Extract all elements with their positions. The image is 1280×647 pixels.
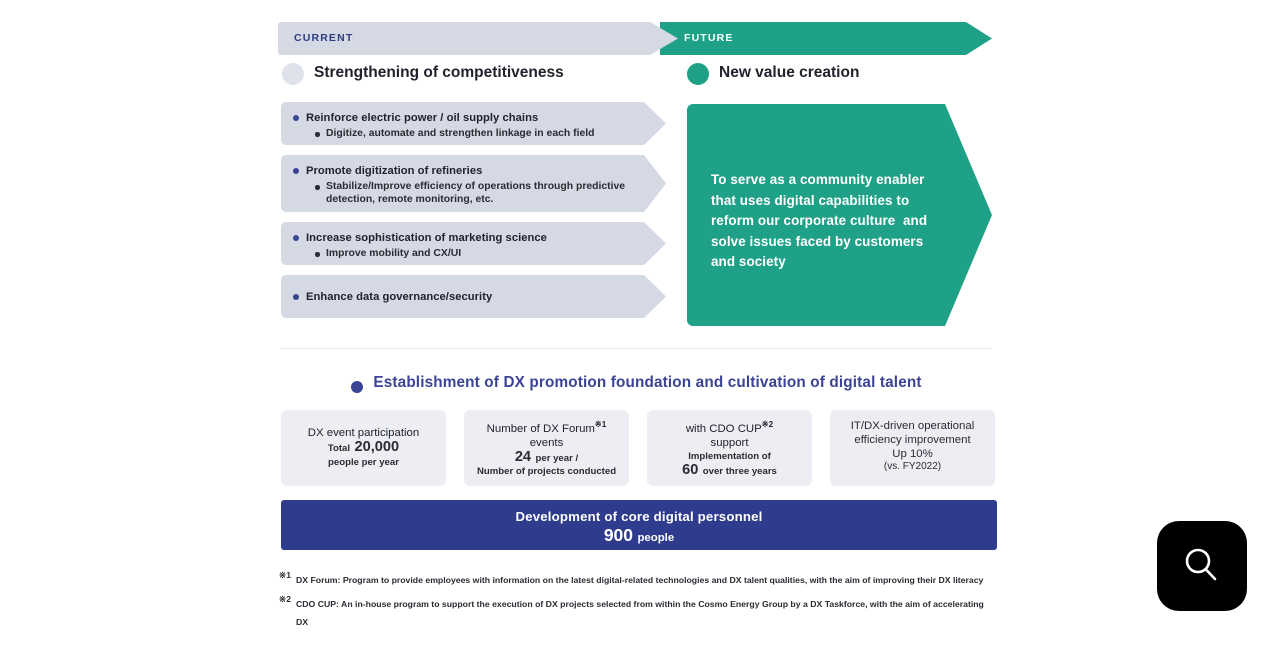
stat-footer: Number of projects conducted — [464, 465, 629, 479]
stat-title-line3: Up 10% — [830, 447, 995, 461]
list-item: Promote digitization of refineries Stabi… — [281, 155, 666, 212]
stat-title-text: with CDO CUP — [686, 423, 762, 435]
phase-tab-bar: CURRENT FUTURE — [278, 22, 992, 55]
future-vision-panel: To serve as a community enabler that use… — [687, 104, 992, 326]
stat-value-row: 60 over three years — [647, 463, 812, 479]
stat-value: 60 — [682, 462, 698, 478]
legend-future-label: New value creation — [719, 64, 859, 82]
banner-value-row: 900 people — [281, 525, 997, 546]
stat-card-row: DX event participation Total 20,000 peop… — [281, 410, 997, 486]
tab-current-label: CURRENT — [294, 32, 353, 44]
initiative-subitem: Digitize, automate and strengthen linkag… — [315, 128, 640, 141]
slide-canvas: CURRENT FUTURE Strengthening of competit… — [0, 0, 1280, 647]
stat-suffix: over three years — [703, 466, 777, 477]
stat-title-line2: efficiency improvement — [830, 433, 995, 447]
tab-future[interactable]: FUTURE — [660, 22, 992, 55]
footnote-marker: ※1 — [279, 570, 291, 581]
stat-value-row: 24 per year / — [464, 450, 629, 466]
stat-footnote-ref: ※1 — [595, 420, 606, 429]
banner-number: 900 — [604, 525, 633, 545]
section-divider — [281, 348, 992, 349]
stat-card-dx-event-participation: DX event participation Total 20,000 peop… — [281, 410, 446, 486]
initiative-subitems: Stabilize/Improve efficiency of operatio… — [293, 181, 640, 206]
stat-card-cdo-cup: with CDO CUP※2 support Implementation of… — [647, 410, 812, 486]
stat-title-line1: Number of DX Forum※1 — [464, 418, 629, 436]
foundation-heading-label: Establishment of DX promotion foundation… — [373, 374, 921, 391]
stat-prefix: Implementation of — [647, 450, 812, 464]
initiative-title: Reinforce electric power / oil supply ch… — [293, 111, 640, 125]
future-vision-statement: To serve as a community enabler that use… — [711, 170, 949, 273]
foundation-heading-inner: Establishment of DX promotion foundation… — [351, 374, 921, 392]
list-item: Enhance data governance/security — [281, 275, 666, 318]
tab-current[interactable]: CURRENT — [278, 22, 678, 55]
current-initiatives-list: Reinforce electric power / oil supply ch… — [281, 102, 666, 328]
initiative-title: Enhance data governance/security — [293, 290, 640, 304]
core-personnel-banner: Development of core digital personnel 90… — [281, 500, 997, 550]
stat-value: 20,000 — [355, 439, 400, 455]
footnote-list: ※1 DX Forum: Program to provide employee… — [279, 570, 995, 636]
footnote-text: DX Forum: Program to provide employees w… — [296, 575, 983, 585]
initiative-subitems: Improve mobility and CX/UI — [293, 248, 640, 261]
legend-green-dot-icon — [687, 63, 709, 85]
footnote-1: ※1 DX Forum: Program to provide employee… — [279, 570, 995, 588]
stat-footnote-ref: ※2 — [762, 420, 773, 429]
list-item: Increase sophistication of marketing sci… — [281, 222, 666, 265]
tab-future-label: FUTURE — [684, 32, 733, 44]
legend-gray-dot-icon — [282, 63, 304, 85]
stat-card-operational-efficiency: IT/DX-driven operational efficiency impr… — [830, 410, 995, 486]
stat-title: DX event participation — [281, 426, 446, 440]
legend-current-label: Strengthening of competitiveness — [314, 64, 564, 82]
stat-value-row: Total 20,000 — [281, 440, 446, 456]
stat-footer: people per year — [281, 456, 446, 470]
banner-title: Development of core digital personnel — [281, 509, 997, 524]
initiative-subitem: Improve mobility and CX/UI — [315, 248, 640, 261]
stat-value: 24 — [515, 449, 531, 465]
stat-title-line2: events — [464, 436, 629, 450]
foundation-heading: Establishment of DX promotion foundation… — [281, 374, 992, 392]
list-item: Reinforce electric power / oil supply ch… — [281, 102, 666, 145]
stat-title-line2: support — [647, 436, 812, 450]
banner-unit: people — [637, 532, 674, 544]
initiative-subitem: Stabilize/Improve efficiency of operatio… — [315, 181, 640, 206]
footnote-2: ※2 CDO CUP: An in-house program to suppo… — [279, 594, 995, 630]
stat-card-dx-forum-events: Number of DX Forum※1 events 24 per year … — [464, 410, 629, 486]
footnote-text: CDO CUP: An in-house program to support … — [296, 599, 984, 627]
initiative-title: Increase sophistication of marketing sci… — [293, 231, 640, 245]
footnote-marker: ※2 — [279, 594, 291, 605]
stat-title-line1: IT/DX-driven operational — [830, 419, 995, 433]
stat-prefix: Total — [328, 443, 350, 454]
search-button[interactable] — [1157, 521, 1247, 611]
stat-suffix: per year / — [536, 453, 579, 464]
initiative-subitems: Digitize, automate and strengthen linkag… — [293, 128, 640, 141]
initiative-title: Promote digitization of refineries — [293, 164, 640, 178]
stat-title-line1: with CDO CUP※2 — [647, 418, 812, 436]
stat-footer: (vs. FY2022) — [830, 461, 995, 472]
stat-title-text: Number of DX Forum — [487, 423, 595, 435]
search-icon — [1181, 545, 1223, 587]
